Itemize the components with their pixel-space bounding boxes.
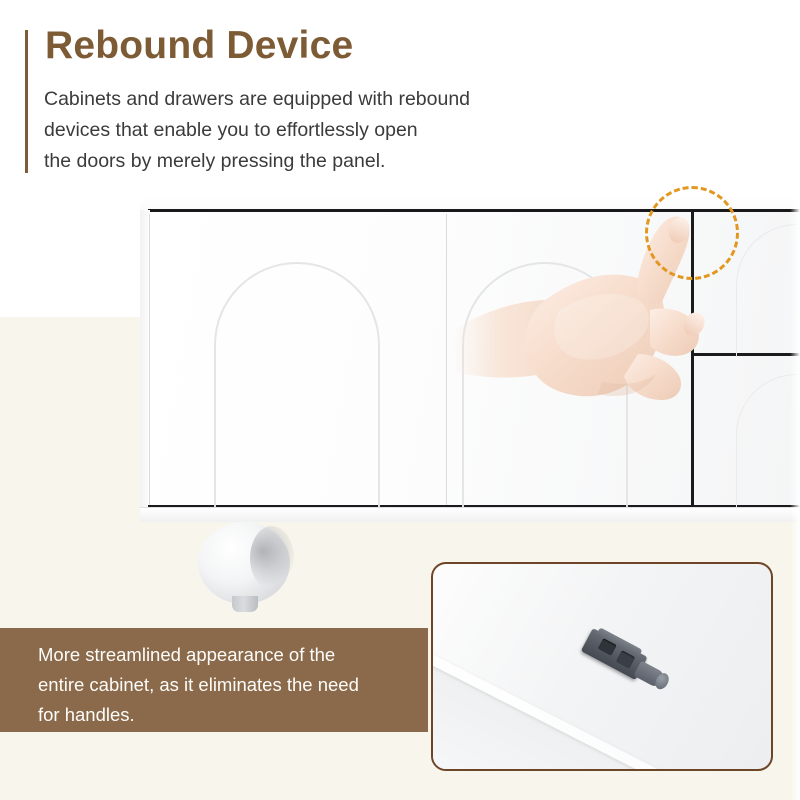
page-title: Rebound Device [45, 24, 353, 68]
description-line-2: devices that enable you to effortlessly … [44, 115, 564, 146]
leg-stem [232, 596, 258, 612]
door-arch-groove-left [214, 262, 380, 510]
caption-banner-text: More streamlined appearance of the entir… [38, 640, 418, 730]
right-edge-fade [790, 0, 800, 800]
push-latch-hardware [577, 623, 677, 702]
header-description: Cabinets and drawers are equipped with r… [44, 84, 564, 177]
description-line-1: Cabinets and drawers are equipped with r… [44, 84, 564, 115]
door-seam-center [446, 214, 447, 506]
leg-shading [250, 526, 294, 590]
latch-closeup-photo [431, 562, 773, 771]
description-line-3: the doors by merely pressing the panel. [44, 146, 564, 177]
cabinet-base-rail [140, 508, 800, 522]
caption-line-2: entire cabinet, as it eliminates the nee… [38, 670, 418, 700]
highlight-circle-icon [645, 186, 739, 280]
cabinet-ball-leg [198, 522, 294, 610]
infographic-page: Rebound Device Cabinets and drawers are … [0, 0, 800, 800]
caption-line-1: More streamlined appearance of the [38, 640, 418, 670]
cabinet-left-seam [149, 214, 150, 506]
caption-line-3: for handles. [38, 700, 418, 730]
header-accent-bar [25, 30, 28, 173]
